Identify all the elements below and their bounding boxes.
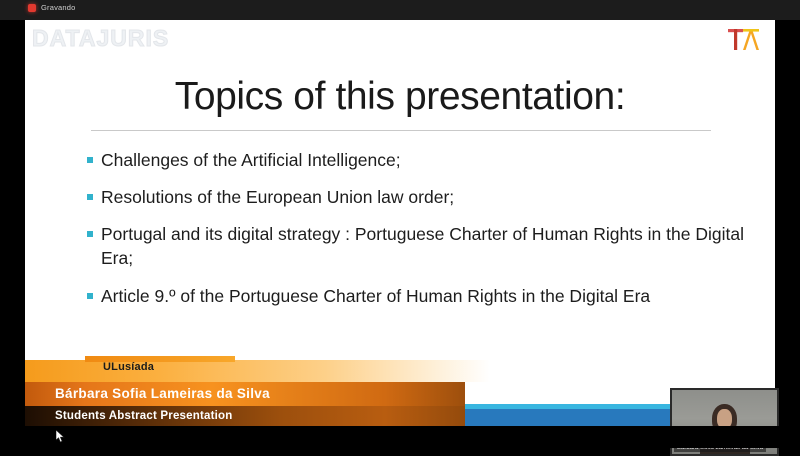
list-item-label: Challenges of the Artificial Intelligenc… bbox=[101, 148, 401, 172]
bullet-square-icon bbox=[87, 293, 93, 299]
slide-canvas[interactable]: DATAJURIS Topics of this presentation: C… bbox=[25, 20, 775, 428]
speaker-name-label: Bárbara Sofia Lameiras da Silva bbox=[55, 386, 270, 401]
record-dot-icon bbox=[28, 4, 36, 12]
presentation-stage: DATAJURIS Topics of this presentation: C… bbox=[0, 20, 800, 448]
mouse-cursor-icon bbox=[56, 430, 65, 443]
bullet-square-icon bbox=[87, 231, 93, 237]
list-item: Article 9.º of the Portuguese Charter of… bbox=[87, 284, 747, 308]
datajuris-watermark: DATAJURIS bbox=[32, 25, 169, 52]
recording-status-bar: Gravando bbox=[0, 0, 800, 20]
slide-footer-banner: ULusíada Bárbara Sofia Lameiras da Silva… bbox=[25, 360, 775, 428]
page-title: Topics of this presentation: bbox=[25, 75, 775, 119]
banner-top-gradient: ULusíada bbox=[25, 360, 775, 382]
letterbox-bottom bbox=[0, 426, 800, 448]
title-divider bbox=[91, 130, 711, 131]
bullet-list: Challenges of the Artificial Intelligenc… bbox=[87, 148, 747, 321]
ta-logo-icon bbox=[725, 26, 761, 56]
bullet-square-icon bbox=[87, 157, 93, 163]
recording-indicator: Gravando bbox=[28, 3, 76, 12]
institution-label: ULusíada bbox=[103, 361, 154, 373]
recording-label: Gravando bbox=[41, 3, 76, 12]
bullet-square-icon bbox=[87, 194, 93, 200]
list-item-label: Portugal and its digital strategy : Port… bbox=[101, 222, 747, 270]
list-item-label: Resolutions of the European Union law or… bbox=[101, 185, 454, 209]
session-title-label: Students Abstract Presentation bbox=[55, 410, 232, 422]
list-item-label: Article 9.º of the Portuguese Charter of… bbox=[101, 284, 650, 308]
list-item: Challenges of the Artificial Intelligenc… bbox=[87, 148, 747, 172]
list-item: Portugal and its digital strategy : Port… bbox=[87, 222, 747, 270]
list-item: Resolutions of the European Union law or… bbox=[87, 185, 747, 209]
